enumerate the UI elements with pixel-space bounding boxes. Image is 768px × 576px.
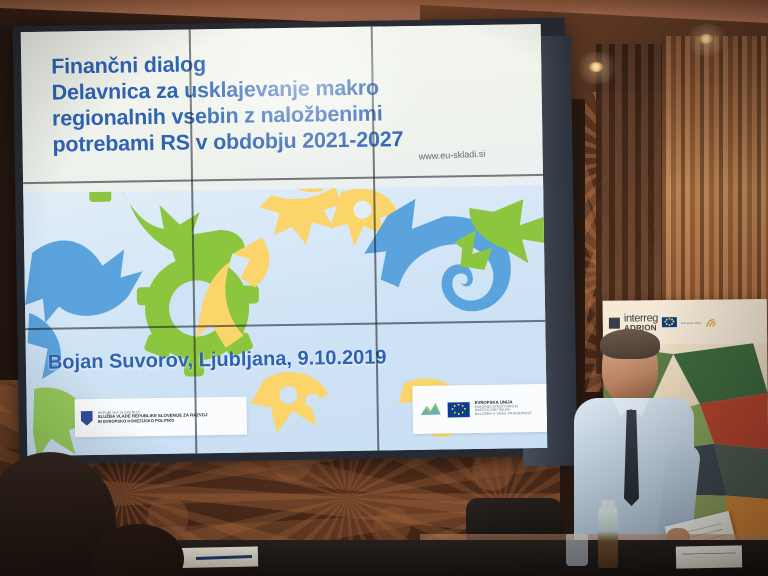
spotlight-4-icon (699, 34, 713, 44)
adrion-mark-icon (609, 317, 620, 328)
logo-slovenia-government: REPUBLIKA SLOVENIJA SLUŽBA VLADE REPUBLI… (74, 397, 247, 438)
speaker-hair (600, 329, 660, 359)
water-bottle (598, 506, 618, 568)
table-nameplate (676, 545, 742, 568)
eu-skladi-mark-icon (418, 398, 442, 422)
drinking-glass (566, 534, 588, 566)
eu-stars (448, 402, 470, 417)
presentation-screen[interactable]: Finančni dialog Delavnica za usklajevanj… (21, 24, 548, 456)
eu-logo-line-4: NALOŽBA V VAŠO PRIHODNOST (475, 412, 533, 417)
eu-flag-icon (448, 402, 470, 417)
banner-eu-stars (662, 317, 677, 327)
spotlight-3-icon (589, 62, 603, 72)
nameplate-text-lines (682, 553, 736, 558)
slovenia-crest-icon (81, 411, 93, 426)
conference-photo-scene: Finančni dialog Delavnica za usklajevanj… (0, 0, 768, 576)
slovenia-logo-line-3: IN EVROPSKO KOHEZIJSKO POLITIKO (98, 418, 208, 424)
slide-title: Finančni dialog Delavnica za usklajevanj… (51, 47, 483, 158)
interreg-subtitle: European Union (681, 320, 701, 324)
adrion-waves-icon (705, 315, 721, 329)
water-bottle-cap (601, 500, 615, 509)
logo-european-union: EVROPSKA UNIJA EVROPSKI STRUKTURNI IN IN… (412, 384, 547, 434)
banner-eu-flag-icon (662, 317, 677, 327)
